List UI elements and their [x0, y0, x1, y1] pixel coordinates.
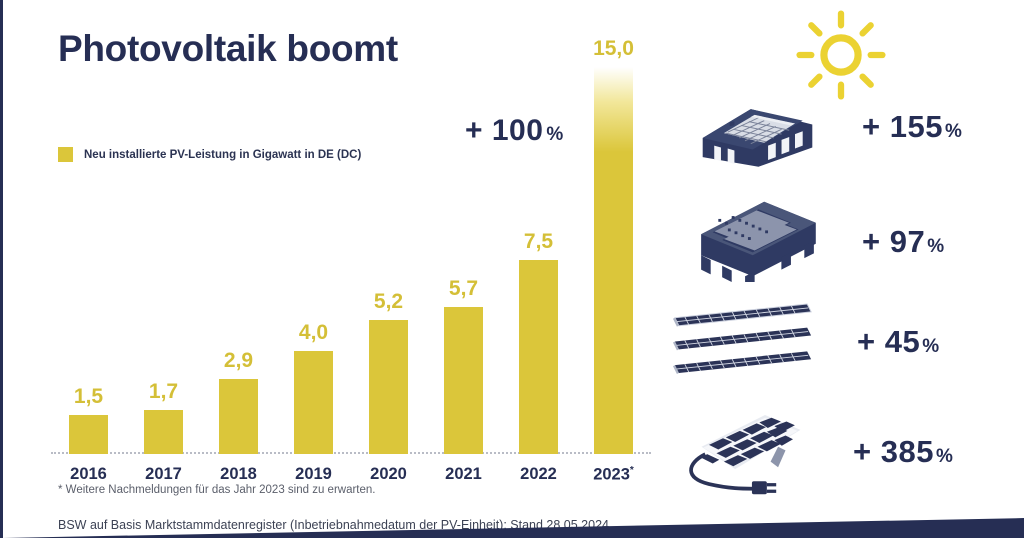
bar-chart: 1,520161,720172,920184,020195,220205,720… — [51, 20, 651, 454]
bar — [294, 351, 333, 454]
bar-category-label: 2019 — [276, 465, 351, 484]
bar-slot: 15,02023* — [576, 20, 651, 454]
bar-value-label: 15,0 — [576, 37, 651, 61]
bar-slot: 7,52022 — [501, 20, 576, 454]
bar-category-label: 2018 — [201, 465, 276, 484]
house-solar-icon — [695, 78, 820, 175]
bar-value-label: 5,2 — [351, 290, 426, 314]
bar — [444, 307, 483, 454]
bar-annotation: + 100% — [465, 114, 564, 148]
bar-value-label: 1,7 — [126, 380, 201, 404]
stat-row-commercial: + 97% — [695, 196, 945, 287]
bar-category-label: 2022 — [501, 465, 576, 484]
stat-label-solar-farm: + 45% — [857, 324, 940, 360]
bar-slot: 1,72017 — [126, 20, 201, 454]
bar — [369, 320, 408, 454]
bar-value-label: 4,0 — [276, 321, 351, 345]
bar-slot: 2,92018 — [201, 20, 276, 454]
stat-label-balcony: + 385% — [853, 434, 953, 470]
bar-category-label: 2021 — [426, 465, 501, 484]
stat-label-residential: + 155% — [862, 109, 962, 145]
solar-farm-icon — [671, 300, 819, 384]
bar-slot: 5,22020 — [351, 20, 426, 454]
stat-row-residential: + 155% — [695, 78, 962, 175]
chart-footnote: * Weitere Nachmeldungen für das Jahr 202… — [58, 484, 376, 496]
commercial-roof-solar-icon — [695, 196, 820, 287]
stat-row-solar-farm: + 45% — [671, 300, 940, 384]
bar-category-label: 2020 — [351, 465, 426, 484]
bar — [219, 379, 258, 454]
bar-slot: 4,02019 — [276, 20, 351, 454]
bar — [144, 410, 183, 454]
bar-category-label: 2023* — [576, 465, 651, 485]
bar-category-label: 2017 — [126, 465, 201, 484]
bar — [519, 260, 558, 454]
bar-category-label: 2016 — [51, 465, 126, 484]
bar-value-label: 7,5 — [501, 230, 576, 254]
bar-value-label: 2,9 — [201, 349, 276, 373]
bar — [594, 67, 633, 454]
stat-label-commercial: + 97% — [862, 224, 945, 260]
bar-slot: 1,52016 — [51, 20, 126, 454]
balcony-solar-plug-icon — [681, 398, 821, 506]
bar-value-label: 1,5 — [51, 385, 126, 409]
stat-row-balcony: + 385% — [681, 398, 953, 506]
bar-value-label: 5,7 — [426, 277, 501, 301]
infographic-canvas: Photovoltaik boomt Neu installierte PV-L… — [0, 0, 1024, 538]
bar — [69, 415, 108, 454]
bar-slot: 5,72021 — [426, 20, 501, 454]
chart-source: BSW auf Basis Marktstammdatenregister (I… — [58, 518, 609, 532]
